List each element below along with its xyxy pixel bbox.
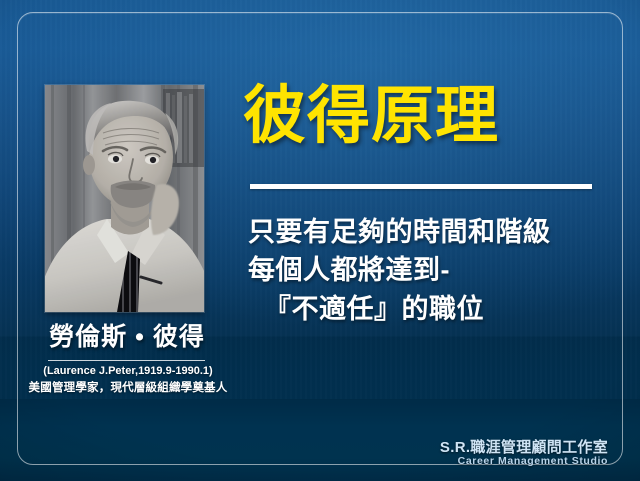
- subtitle-line-2: 每個人都將達到-: [248, 251, 630, 289]
- slide-subtitle: 只要有足夠的時間和階級 每個人都將達到- 『不適任』的職位: [248, 213, 630, 328]
- presentation-slide: 彼得原理 只要有足夠的時間和階級 每個人都將達到- 『不適任』的職位 勞倫斯 •…: [0, 0, 640, 481]
- subtitle-line-1: 只要有足夠的時間和階級: [248, 213, 630, 251]
- studio-logo: S.R.職涯管理顧問工作室 Career Management Studio: [440, 440, 608, 467]
- person-description: 美國管理學家，現代層級組織學奠基人: [20, 380, 236, 397]
- subtitle-line-3: 『不適任』的職位: [248, 290, 630, 328]
- person-meta: (Laurence J.Peter,1919.9-1990.1) 美國管理學家，…: [20, 364, 236, 397]
- portrait-photo: [45, 85, 204, 312]
- title-divider: [250, 184, 592, 189]
- person-name: 勞倫斯 • 彼得: [32, 324, 222, 352]
- studio-logo-chinese: S.R.職涯管理顧問工作室: [440, 440, 608, 456]
- person-name-divider: [48, 360, 205, 361]
- slide-title: 彼得原理: [243, 84, 623, 148]
- portrait-photo-image: [45, 85, 204, 312]
- person-latin-name: (Laurence J.Peter,1919.9-1990.1): [20, 364, 236, 380]
- studio-logo-english: Career Management Studio: [440, 456, 608, 467]
